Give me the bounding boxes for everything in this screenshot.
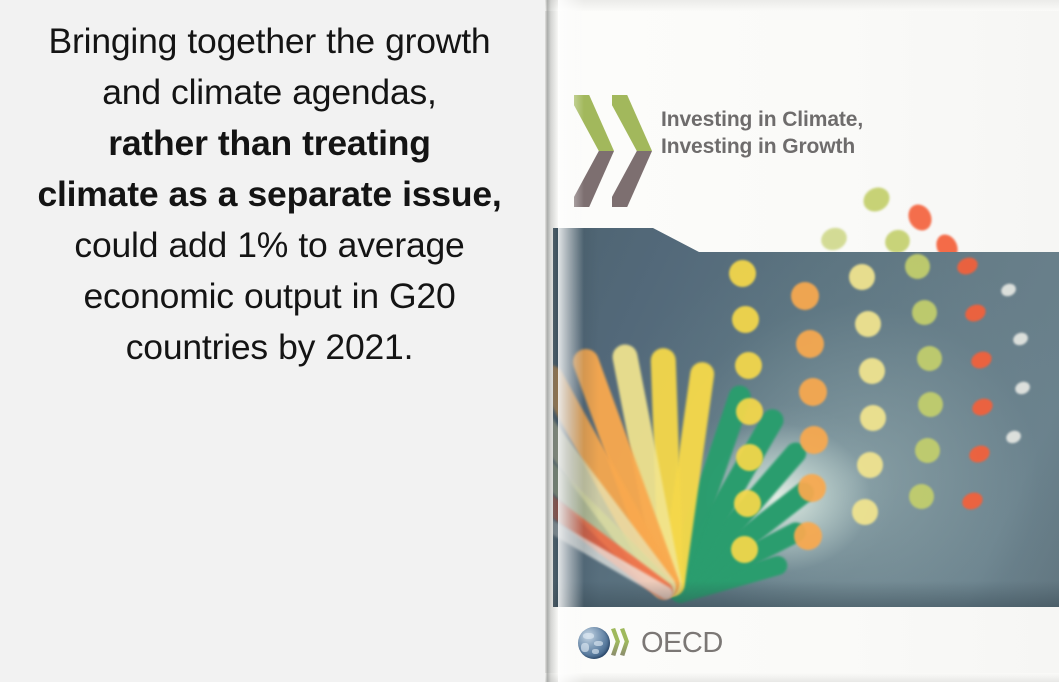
quote-line-7: countries by 2021. [0,322,539,373]
quote-line-5: could add 1% to average [0,220,539,271]
cover-artwork-panel [553,228,1059,607]
artwork-dot [904,200,936,234]
artwork-dot [912,300,937,325]
artwork-dot [909,484,934,509]
artwork-dot [963,302,989,325]
quote-line-3: rather than treating [0,118,539,169]
artwork-dot [799,378,827,406]
artwork-dot [791,282,819,310]
quote-panel: Bringing together the growth and climate… [0,0,545,682]
artwork-dot [860,405,886,431]
artwork-dot [798,474,826,502]
artwork-dot [818,224,850,254]
artwork-dot [1011,331,1029,347]
artwork-dot [736,444,763,471]
artwork-dot [855,311,881,337]
artwork-dot [731,536,758,563]
artwork-dot [736,398,763,425]
artwork-dot [905,254,930,279]
artwork-dot [857,452,883,478]
quote-line-6: economic output in G20 [0,271,539,322]
quote-line-1: Bringing together the growth [0,16,539,67]
cover-title-line-1: Investing in Climate, [661,106,961,133]
book-cover: Investing in Climate, Investing in Growt… [545,0,1059,682]
artwork-dot [794,522,822,550]
artwork-dot [999,282,1017,298]
artwork-dot [800,426,828,454]
oecd-logo: OECD [578,626,723,660]
quote-text: Bringing together the growth and climate… [0,16,539,373]
artwork-bottom-shading [553,581,1059,607]
artwork-dot [915,438,940,463]
cover-title: Investing in Climate, Investing in Growt… [661,106,961,160]
cover-top-edge [545,0,1059,11]
artwork-dot [918,392,943,417]
cover-bottom-edge [545,673,1059,682]
artwork-dot [970,396,996,419]
artwork-dot [859,358,885,384]
artwork-dot [959,490,985,513]
artwork-dot [1014,380,1032,396]
artwork-dot [734,490,761,517]
oecd-swoosh-icon [611,628,637,658]
artwork-dot [1004,429,1022,445]
chevron-upper-half [612,95,652,151]
artwork-dot [966,443,992,466]
globe-icon [578,627,610,659]
artwork-dot [968,349,994,372]
artwork-dot [859,183,894,216]
book-spine-highlight [558,0,584,682]
artwork-dot [852,499,878,525]
artwork-dot [735,352,762,379]
artwork-dot [849,264,875,290]
artwork-dot [729,260,756,287]
book-spine-shadow [545,0,558,682]
artwork-dot [732,306,759,333]
quote-line-2: and climate agendas, [0,67,539,118]
oecd-wordmark: OECD [641,627,723,660]
quote-line-4: climate as a separate issue, [0,169,539,220]
cover-title-line-2: Investing in Growth [661,133,961,160]
artwork-dot [796,330,824,358]
page-root: Bringing together the growth and climate… [0,0,1059,682]
artwork-dot [955,255,981,278]
artwork-dot [917,346,942,371]
